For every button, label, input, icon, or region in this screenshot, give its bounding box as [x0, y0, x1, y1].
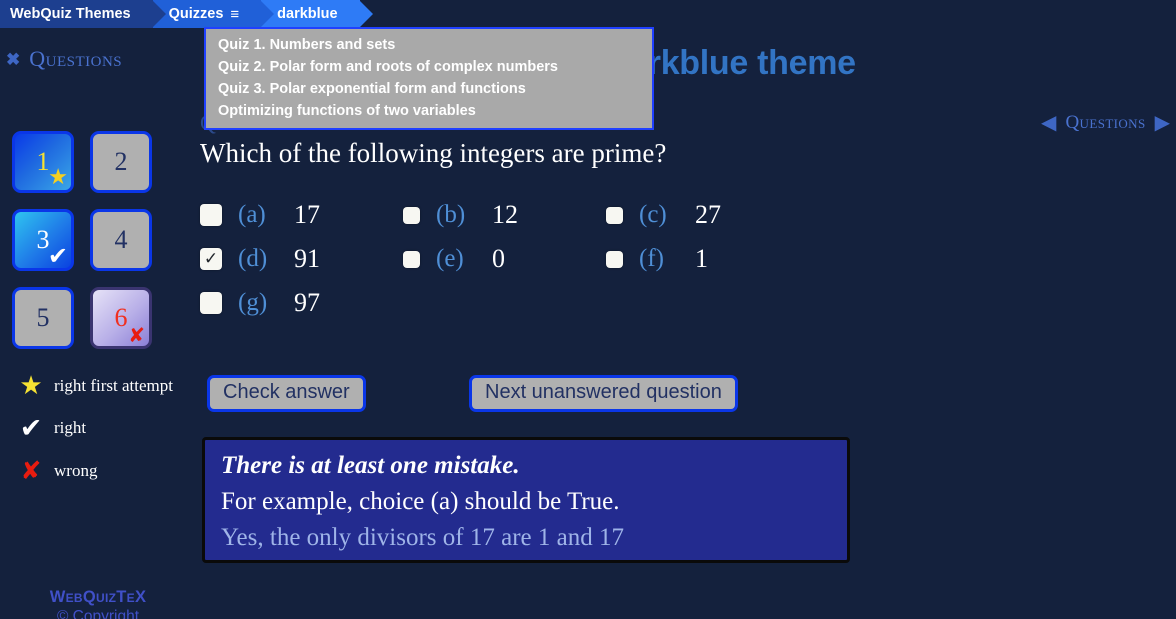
next-question-icon[interactable]: ▶	[1155, 113, 1170, 133]
feedback-line-2: For example, choice (a) should be True.	[221, 484, 831, 520]
check-icon: ✔	[8, 415, 54, 442]
choice-row-3: (g) 97	[200, 288, 900, 318]
dropdown-item-quiz3[interactable]: Quiz 3. Polar exponential form and funct…	[206, 78, 652, 100]
choice-a-value: 17	[294, 200, 320, 230]
choice-g[interactable]: (g) 97	[200, 288, 403, 318]
close-icon[interactable]: ✖	[6, 51, 20, 68]
quiz-page: WebQuiz Themes Quizzes ≡ darkblue The da…	[0, 0, 1176, 619]
choice-g-value: 97	[294, 288, 320, 318]
check-answer-button[interactable]: Check answer	[207, 375, 366, 412]
choice-d-value: 91	[294, 244, 320, 274]
question-button-4[interactable]: 4	[90, 209, 152, 271]
cross-icon: ✘	[8, 458, 54, 483]
question-button-5[interactable]: 5	[12, 287, 74, 349]
answer-choices: (a) 17 (b) 12 (c) 27 ✓ (d) 91	[200, 200, 900, 332]
legend-item-wrong: ✘ wrong	[8, 458, 193, 483]
question-button-5-number: 5	[37, 303, 50, 333]
choice-f-label: (f)	[639, 245, 687, 273]
checkbox-g[interactable]	[200, 292, 222, 314]
sidebar-footer: WebQuizTeX © Copyright 2004-2019	[0, 588, 196, 619]
next-unanswered-question-button[interactable]: Next unanswered question	[469, 375, 738, 412]
feedback-line-1: There is at least one mistake.	[221, 448, 831, 484]
breadcrumb-label-darkblue: darkblue	[277, 6, 337, 22]
legend: ★ right first attempt ✔ right ✘ wrong	[8, 373, 193, 499]
sidebar-heading: Questions	[29, 46, 122, 72]
choice-c-value: 27	[695, 200, 721, 230]
feedback-line-3: Yes, the only divisors of 17 are 1 and 1…	[221, 520, 831, 556]
star-icon: ★	[48, 167, 68, 189]
question-nav: ◀ Questions ▶	[1041, 112, 1170, 134]
question-button-2-number: 2	[115, 147, 128, 177]
legend-label-wrong: wrong	[54, 458, 97, 481]
legend-item-right: ✔ right	[8, 415, 193, 442]
check-icon: ✔	[48, 244, 68, 268]
choice-f-value: 1	[695, 244, 708, 274]
question-text: Which of the following integers are prim…	[200, 138, 666, 169]
choice-a-label: (a)	[238, 201, 286, 229]
question-button-6-number: 6	[115, 303, 128, 333]
checkbox-a[interactable]	[200, 204, 222, 226]
checkbox-d[interactable]: ✓	[200, 248, 222, 270]
checkbox-e[interactable]	[403, 251, 420, 268]
quizzes-dropdown-menu[interactable]: Quiz 1. Numbers and sets Quiz 2. Polar f…	[204, 27, 654, 130]
choice-f[interactable]: (f) 1	[606, 244, 809, 274]
choice-e[interactable]: (e) 0	[403, 244, 606, 274]
question-button-4-number: 4	[115, 225, 128, 255]
choice-d-label: (d)	[238, 245, 286, 273]
dropdown-item-quiz1[interactable]: Quiz 1. Numbers and sets	[206, 34, 652, 56]
question-button-grid: 1 ★ 2 3 ✔ 4 5 6 ✘	[12, 131, 152, 349]
choice-b-label: (b)	[436, 201, 484, 229]
question-nav-label: Questions	[1065, 112, 1145, 134]
checkbox-f[interactable]	[606, 251, 623, 268]
question-button-2[interactable]: 2	[90, 131, 152, 193]
choice-g-label: (g)	[238, 289, 286, 317]
dropdown-item-optimizing[interactable]: Optimizing functions of two variables	[206, 100, 652, 122]
choice-d[interactable]: ✓ (d) 91	[200, 244, 403, 274]
star-icon: ★	[8, 373, 54, 399]
choice-row-1: (a) 17 (b) 12 (c) 27	[200, 200, 900, 230]
breadcrumb-label-themes: WebQuiz Themes	[10, 6, 131, 22]
dropdown-item-quiz2[interactable]: Quiz 2. Polar form and roots of complex …	[206, 56, 652, 78]
choice-b-value: 12	[492, 200, 518, 230]
brand-name: WebQuizTeX	[0, 588, 196, 607]
breadcrumb-label-quizzes: Quizzes	[169, 6, 224, 22]
question-button-1[interactable]: 1 ★	[12, 131, 74, 193]
cross-icon: ✘	[128, 325, 145, 345]
checkbox-b[interactable]	[403, 207, 420, 224]
choice-a[interactable]: (a) 17	[200, 200, 403, 230]
choice-e-value: 0	[492, 244, 505, 274]
checkbox-c[interactable]	[606, 207, 623, 224]
choice-row-2: ✓ (d) 91 (e) 0 (f) 1	[200, 244, 900, 274]
choice-c-label: (c)	[639, 201, 687, 229]
question-button-3[interactable]: 3 ✔	[12, 209, 74, 271]
question-button-6[interactable]: 6 ✘	[90, 287, 152, 349]
legend-item-right-first: ★ right first attempt	[8, 373, 193, 399]
choice-e-label: (e)	[436, 245, 484, 273]
prev-question-icon[interactable]: ◀	[1041, 113, 1056, 133]
sidebar: ✖ Questions 1 ★ 2 3 ✔ 4 5 6 ✘	[0, 28, 196, 619]
choice-c[interactable]: (c) 27	[606, 200, 809, 230]
legend-label-right: right	[54, 415, 86, 438]
breadcrumb-navbar: WebQuiz Themes Quizzes ≡ darkblue	[0, 0, 1176, 28]
legend-label-right-first: right first attempt	[54, 373, 173, 396]
choice-b[interactable]: (b) 12	[403, 200, 606, 230]
copyright-text: © Copyright	[0, 607, 196, 619]
feedback-box: There is at least one mistake. For examp…	[202, 437, 850, 563]
sidebar-header: ✖ Questions	[0, 28, 196, 72]
breadcrumb-item-themes[interactable]: WebQuiz Themes	[0, 0, 153, 28]
hamburger-menu-icon[interactable]: ≡	[230, 7, 239, 22]
